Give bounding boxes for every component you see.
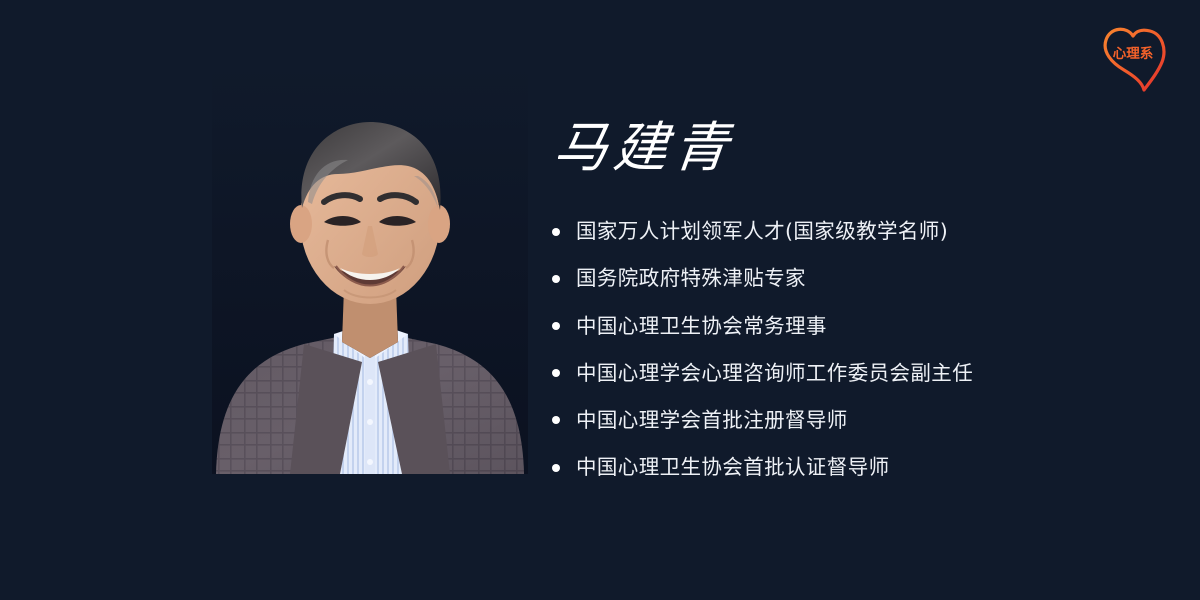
speaker-name-text: 马建青 xyxy=(558,116,737,179)
credential-text: 中国心理学会首批注册督导师 xyxy=(576,408,848,433)
bullet-icon xyxy=(552,228,560,236)
speaker-portrait xyxy=(212,62,528,474)
bullet-icon xyxy=(552,369,560,377)
speaker-intro-slide: 心理系 xyxy=(0,0,1200,600)
credential-text: 中国心理卫生协会常务理事 xyxy=(576,314,827,339)
portrait-illustration xyxy=(212,62,528,474)
list-item: 国家万人计划领军人才(国家级教学名师) xyxy=(552,208,1172,255)
list-item: 国务院政府特殊津贴专家 xyxy=(552,255,1172,302)
bullet-icon xyxy=(552,275,560,283)
list-item: 中国心理卫生协会常务理事 xyxy=(552,302,1172,349)
list-item: 中国心理学会首批注册督导师 xyxy=(552,397,1172,444)
speaker-name: 马建青 xyxy=(558,108,958,184)
credential-text: 国务院政府特殊津贴专家 xyxy=(576,266,806,291)
credentials-list: 国家万人计划领军人才(国家级教学名师) 国务院政府特殊津贴专家 中国心理卫生协会… xyxy=(552,208,1172,491)
bullet-icon xyxy=(552,464,560,472)
brand-logo: 心理系 xyxy=(1096,22,1178,92)
credential-text: 中国心理学会心理咨询师工作委员会副主任 xyxy=(576,361,973,386)
list-item: 中国心理学会心理咨询师工作委员会副主任 xyxy=(552,350,1172,397)
list-item: 中国心理卫生协会首批认证督导师 xyxy=(552,444,1172,491)
credential-text: 中国心理卫生协会首批认证督导师 xyxy=(576,455,890,480)
bullet-icon xyxy=(552,416,560,424)
logo-text: 心理系 xyxy=(1096,48,1170,62)
bullet-icon xyxy=(552,322,560,330)
credential-text: 国家万人计划领军人才(国家级教学名师) xyxy=(576,219,948,244)
speaker-name-calligraphy: 马建青 xyxy=(558,108,958,184)
